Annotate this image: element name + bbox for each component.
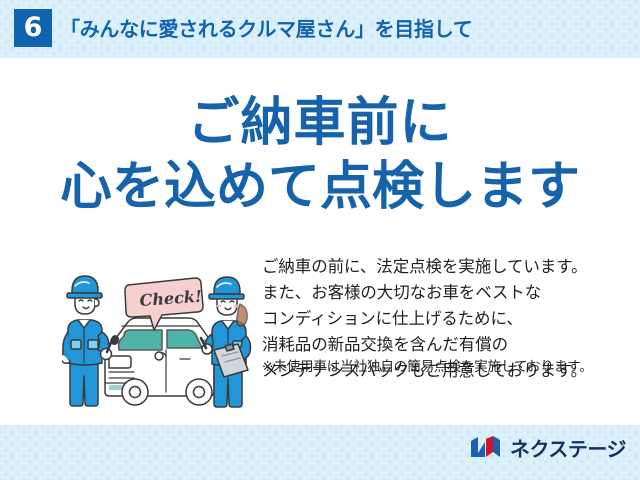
nextage-logo-text: ネクステージ — [510, 433, 626, 462]
body-line: コンディションに仕上げるために、 — [262, 306, 624, 332]
header-bar: 6 「みんなに愛されるクルマ屋さん」を目指して — [0, 0, 640, 58]
headline-line-1: ご納車前に — [0, 94, 640, 152]
van-illustration — [105, 318, 214, 405]
body-line: 消耗品の新品交換を含んだ有償の — [262, 332, 624, 358]
nextage-n-mark — [469, 435, 503, 459]
body-line: また、お客様の大切なお車をベストな — [262, 280, 624, 306]
section-number-badge: 6 — [14, 9, 52, 47]
body-line: ご納車の前に、法定点検を実施しています。 — [262, 254, 624, 280]
nextage-logo[interactable]: ネクステージ — [469, 433, 626, 461]
promo-card: 6 「みんなに愛されるクルマ屋さん」を目指して ご納車前に 心を込めて点検します… — [0, 0, 640, 480]
header-title: 「みんなに愛されるクルマ屋さん」を目指して — [60, 13, 473, 42]
headline-line-2: 心を込めて点検します — [0, 158, 640, 216]
content-panel: ご納車前に 心を込めて点検します ご納車の前に、法定点検を実施しています。 また… — [0, 58, 640, 425]
illustration-mechanics-inspection: Check! — [62, 264, 257, 412]
footer-bar: ネクステージ — [0, 425, 640, 480]
footnote-text: ※未使用車は当社独自の簡易点検を実施しております。 — [262, 358, 632, 376]
